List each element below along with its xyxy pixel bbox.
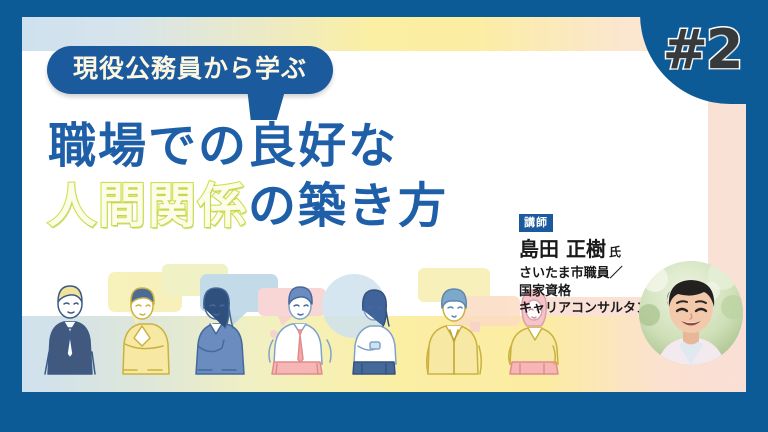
title-highlight: 人間関係 — [48, 178, 248, 234]
avatar — [639, 261, 743, 365]
eyebrow-speech-bubble: 現役公務員から学ぶ — [47, 46, 333, 94]
eyebrow-label: 現役公務員から学ぶ — [73, 55, 307, 83]
series-number-label: #2 — [663, 23, 742, 77]
speaker-honorific: 氏 — [609, 245, 621, 259]
title-line-2: 人間関係の築き方 — [48, 180, 448, 234]
speech-bubble-tail-icon — [239, 90, 286, 120]
speaker-portrait-photo — [639, 261, 743, 365]
speaker-name-text: 島田 正樹 — [519, 237, 606, 261]
banner-canvas: 現役公務員から学ぶ 職場での良好な 人間関係の築き方 講師 島田 正樹氏 さいた… — [22, 17, 746, 392]
banner-root: 現役公務員から学ぶ 職場での良好な 人間関係の築き方 講師 島田 正樹氏 さいた… — [0, 0, 768, 432]
title-line-2-rest: の築き方 — [248, 178, 448, 234]
status-badge: 講師 — [519, 214, 553, 232]
speaker-name: 島田 正樹氏 — [519, 238, 679, 260]
title-line-1: 職場での良好な — [48, 120, 448, 174]
page-title: 職場での良好な 人間関係の築き方 — [48, 120, 448, 234]
eyebrow-bubble-body: 現役公務員から学ぶ — [47, 46, 333, 94]
